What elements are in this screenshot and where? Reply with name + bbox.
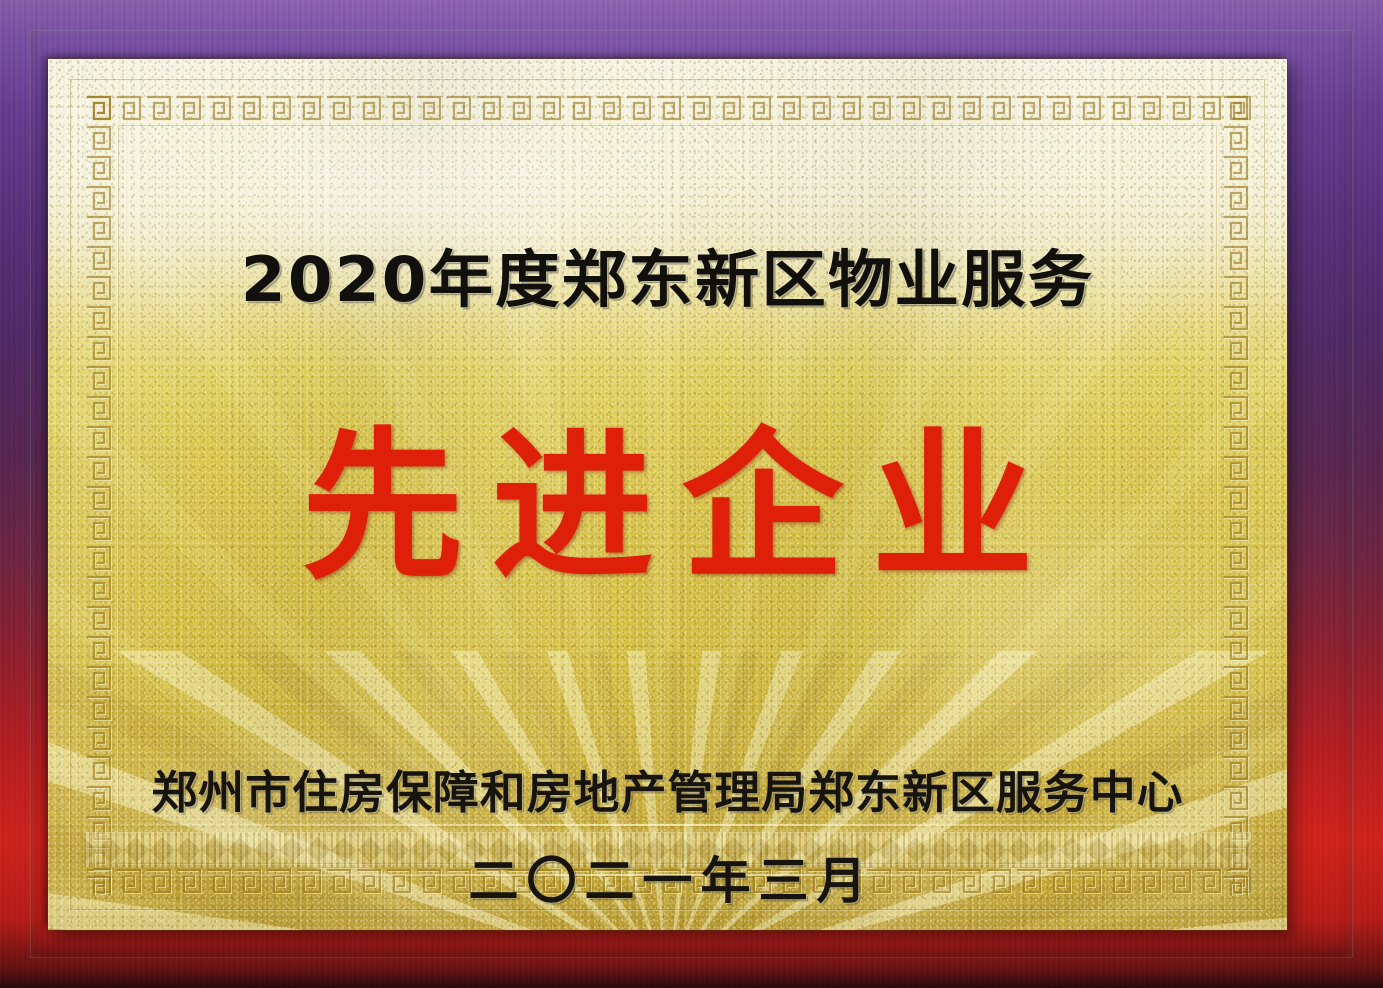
gold-plate: 2020年度郑东新区物业服务 先进企业 郑州市住房保障和房地产管理局郑东新区服务…: [48, 59, 1287, 930]
plaque-issuer: 郑州市住房保障和房地产管理局郑东新区服务中心: [48, 756, 1287, 821]
plaque-content: 2020年度郑东新区物业服务 先进企业 郑州市住房保障和房地产管理局郑东新区服务…: [48, 59, 1287, 930]
plaque-award-title: 先进企业: [48, 427, 1287, 589]
plaque-title: 2020年度郑东新区物业服务: [48, 229, 1287, 319]
plaque-date: 二〇二一年三月: [48, 841, 1287, 913]
award-plaque: 2020年度郑东新区物业服务 先进企业 郑州市住房保障和房地产管理局郑东新区服务…: [0, 0, 1383, 988]
